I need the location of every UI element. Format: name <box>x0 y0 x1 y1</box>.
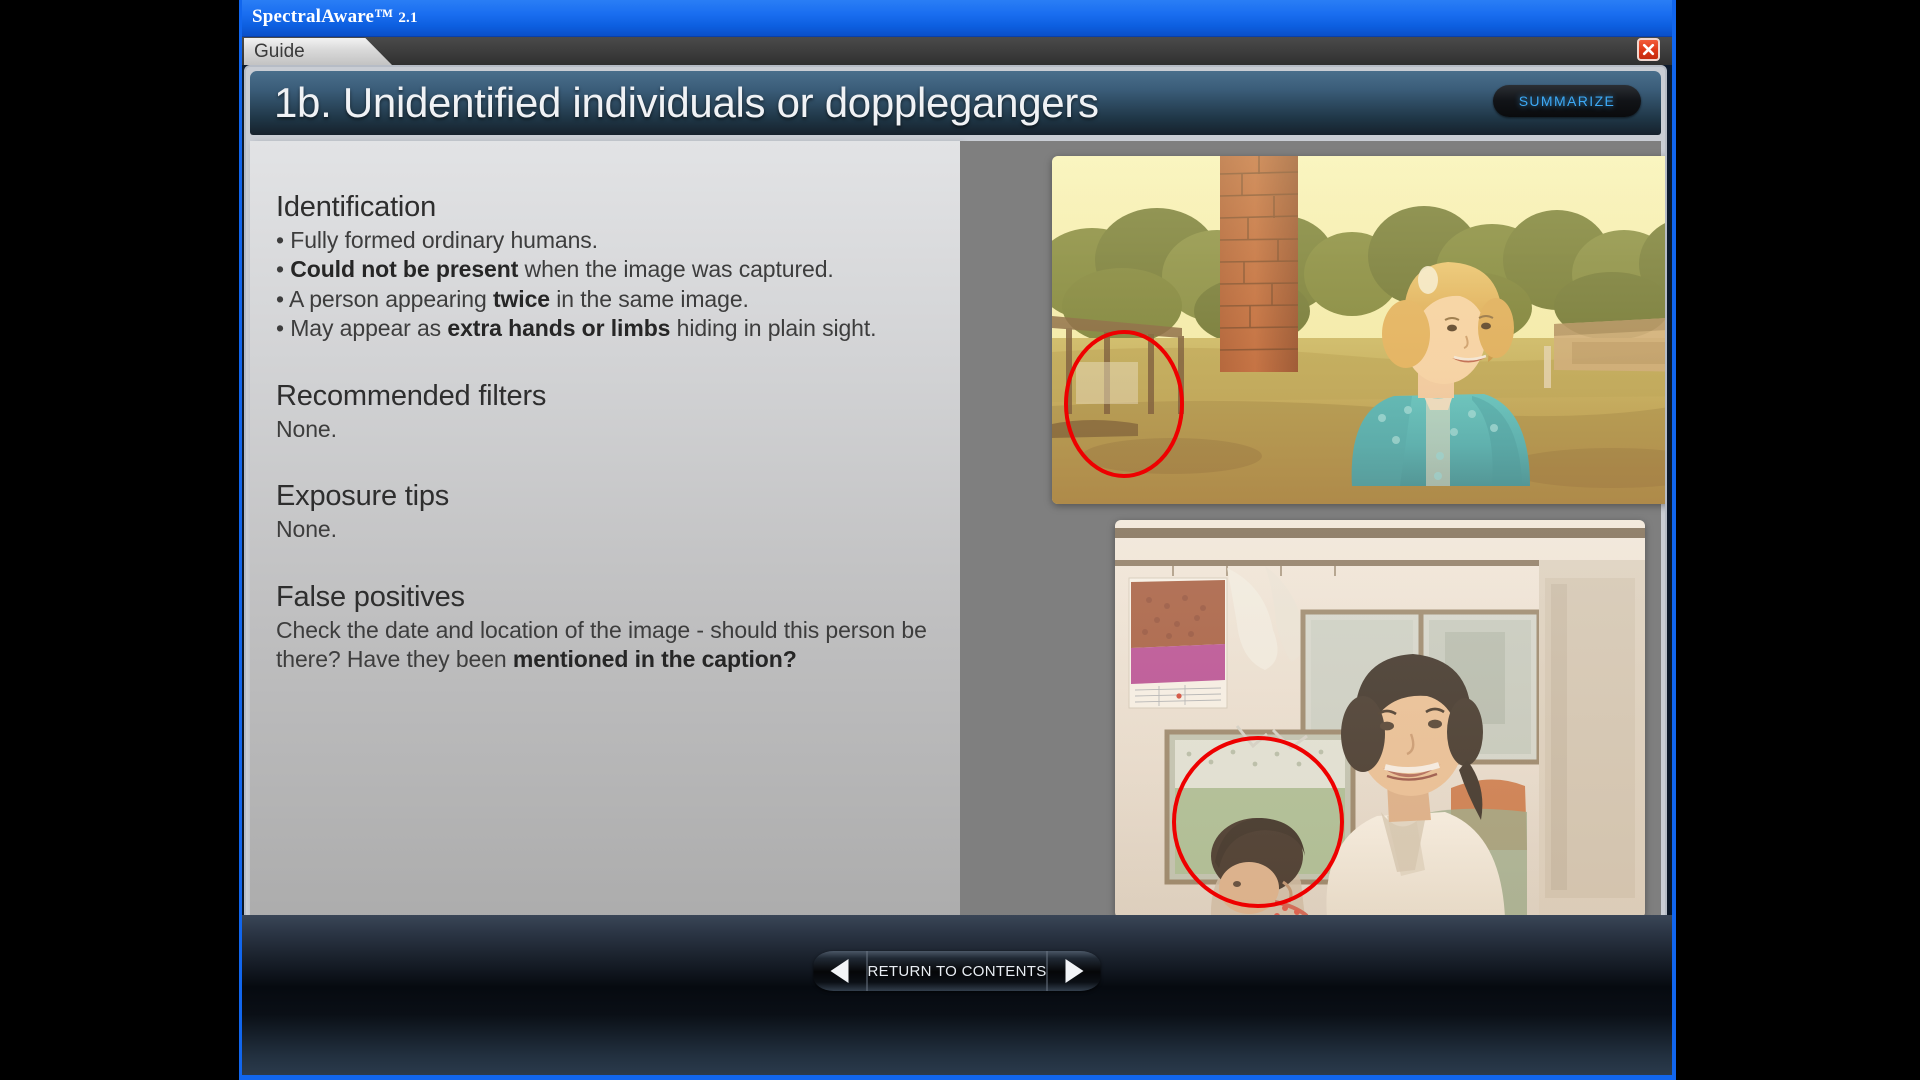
section-line: • A person appearing twice in the same i… <box>276 285 936 314</box>
app-title: SpectralAware™ 2.1 <box>252 6 418 28</box>
app-version: 2.1 <box>398 10 417 26</box>
tab-guide-label: Guide <box>254 41 305 63</box>
line-emphasis: Could not be present <box>290 256 518 282</box>
title-bar: SpectralAware™ 2.1 <box>242 0 1672 37</box>
application-window: SpectralAware™ 2.1 Guide 1b. Unidentifie… <box>239 0 1676 1080</box>
close-icon <box>1641 42 1656 57</box>
example-photos-panel <box>960 141 1661 971</box>
guide-section: Identification• Fully formed ordinary hu… <box>276 191 936 344</box>
photo-woman-indoors-image <box>1115 520 1645 918</box>
page-title: 1b. Unidentified individuals or dopplega… <box>274 79 1099 127</box>
line-emphasis: mentioned in the caption? <box>513 646 797 672</box>
section-heading: Exposure tips <box>276 480 936 513</box>
photo-girl-outdoors-image <box>1052 156 1667 504</box>
photo-girl-outdoors[interactable] <box>1052 156 1667 504</box>
line-text: • May appear as <box>276 315 447 341</box>
guide-text-panel: Identification• Fully formed ordinary hu… <box>250 141 960 971</box>
summarize-label: SUMMARIZE <box>1519 93 1616 109</box>
section-line: Check the date and location of the image… <box>276 616 936 675</box>
next-button[interactable] <box>1048 951 1101 991</box>
content-frame: 1b. Unidentified individuals or dopplega… <box>244 65 1667 980</box>
screen: SpectralAware™ 2.1 Guide 1b. Unidentifie… <box>0 0 1920 1080</box>
line-text: when the image was captured. <box>518 256 833 282</box>
guide-section: Exposure tipsNone. <box>276 480 936 544</box>
line-text: None. <box>276 416 337 442</box>
guide-section: False positivesCheck the date and locati… <box>276 581 936 675</box>
return-to-contents-label: RETURN TO CONTENTS <box>867 963 1046 980</box>
section-line: None. <box>276 415 936 444</box>
section-line: • May appear as extra hands or limbs hid… <box>276 314 936 343</box>
navigation-control: RETURN TO CONTENTS <box>814 951 1101 991</box>
previous-button[interactable] <box>814 951 867 991</box>
section-line: • Fully formed ordinary humans. <box>276 226 936 255</box>
line-text: • <box>276 256 290 282</box>
app-title-text: SpectralAware™ <box>252 6 393 27</box>
guide-sections: Identification• Fully formed ordinary hu… <box>276 191 936 711</box>
photo-woman-indoors[interactable] <box>1115 520 1645 918</box>
close-button[interactable] <box>1637 38 1660 61</box>
line-text: hiding in plain sight. <box>670 315 876 341</box>
summarize-button[interactable]: SUMMARIZE <box>1493 85 1641 117</box>
guide-section: Recommended filtersNone. <box>276 380 936 444</box>
triangle-right-icon <box>1063 958 1085 984</box>
footer-bar: RETURN TO CONTENTS <box>242 915 1672 1080</box>
section-heading: False positives <box>276 581 936 614</box>
line-text: None. <box>276 516 337 542</box>
section-heading: Recommended filters <box>276 380 936 413</box>
section-line: None. <box>276 515 936 544</box>
slide-header: 1b. Unidentified individuals or dopplega… <box>250 71 1661 135</box>
triangle-left-icon <box>829 958 851 984</box>
tab-guide[interactable]: Guide <box>244 38 392 65</box>
window-body: 1b. Unidentified individuals or dopplega… <box>242 65 1672 1080</box>
line-text: in the same image. <box>550 286 749 312</box>
line-text: • Fully formed ordinary humans. <box>276 227 598 253</box>
line-text: • A person appearing <box>276 286 493 312</box>
section-heading: Identification <box>276 191 936 224</box>
tab-strip: Guide <box>242 37 1672 65</box>
line-emphasis: twice <box>493 286 550 312</box>
section-line: • Could not be present when the image wa… <box>276 255 936 284</box>
line-emphasis: extra hands or limbs <box>447 315 670 341</box>
return-to-contents-button[interactable]: RETURN TO CONTENTS <box>866 951 1047 991</box>
